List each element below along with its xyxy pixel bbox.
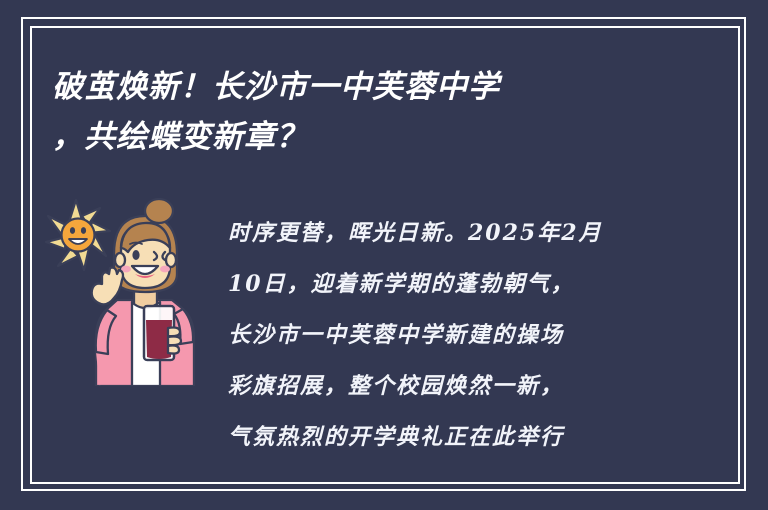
body-line-5: 气氛热烈的开学典礼正在此举行 <box>228 412 678 463</box>
title-line-1: 破茧焕新！长沙市一中芙蓉中学 <box>52 62 692 112</box>
winking-girl-figure <box>92 199 194 386</box>
body-line-2: 10日，迎着新学期的蓬勃朝气， <box>228 259 678 310</box>
body-line-1: 时序更替，晖光日新。2025年2月 <box>228 208 678 259</box>
girl-with-drink-and-sun-illustration <box>44 196 214 386</box>
body-line-3: 长沙市一中芙蓉中学新建的操场 <box>228 310 678 361</box>
body-line-4: 彩旗招展，整个校园焕然一新， <box>228 361 678 412</box>
page-title: 破茧焕新！长沙市一中芙蓉中学 ，共绘蝶变新章？ <box>52 62 692 162</box>
body-paragraph: 时序更替，晖光日新。2025年2月 10日，迎着新学期的蓬勃朝气， 长沙市一中芙… <box>228 208 678 463</box>
smiling-sun-icon <box>46 200 110 270</box>
poster-canvas: 破茧焕新！长沙市一中芙蓉中学 ，共绘蝶变新章？ <box>0 0 768 510</box>
title-line-2: ，共绘蝶变新章？ <box>52 112 692 162</box>
